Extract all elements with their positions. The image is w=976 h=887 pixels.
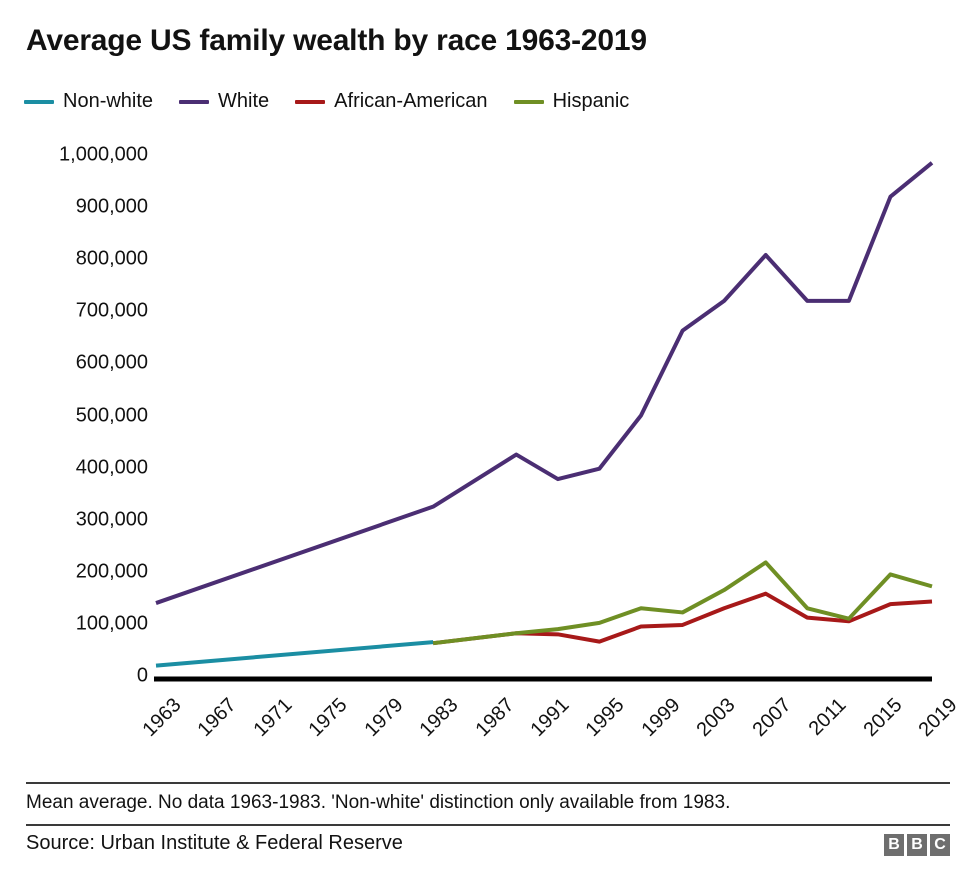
bbc-logo-letter: B bbox=[907, 834, 927, 856]
chart-footnote: Mean average. No data 1963-1983. 'Non-wh… bbox=[26, 792, 730, 814]
bbc-logo-letter: B bbox=[884, 834, 904, 856]
bbc-logo-letter: C bbox=[930, 834, 950, 856]
footnote-divider-bottom bbox=[26, 824, 950, 826]
chart-source: Source: Urban Institute & Federal Reserv… bbox=[26, 832, 403, 855]
plot-area: 0100,000200,000300,000400,000500,000600,… bbox=[0, 0, 976, 780]
bbc-logo: BBC bbox=[884, 834, 950, 856]
footnote-divider-top bbox=[26, 782, 950, 784]
chart-card: Average US family wealth by race 1963-20… bbox=[0, 0, 976, 887]
x-axis-ticks: 1963196719711975197919831987199119951999… bbox=[0, 0, 976, 780]
